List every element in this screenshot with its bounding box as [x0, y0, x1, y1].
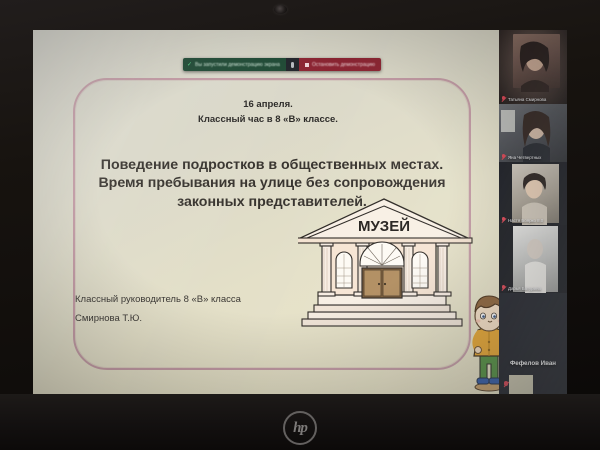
- mic-muted-icon: [501, 154, 506, 160]
- participants-rail: Татьяна Смирнова Яна Четвертных: [499, 30, 567, 395]
- microphone-icon: [291, 62, 294, 68]
- museum-sign-label: МУЗЕЙ: [358, 217, 410, 235]
- participant-avatar-silhouette: [499, 30, 567, 104]
- participant-avatar-silhouette: [499, 225, 567, 293]
- sharing-status-label: Вы запустили демонстрацию экрана: [195, 62, 280, 68]
- check-icon: ✓: [187, 62, 192, 68]
- mic-muted-icon: [501, 96, 506, 102]
- webcam-lens-icon: [274, 5, 287, 14]
- stop-sharing-label: Остановить демонстрацию: [312, 62, 375, 68]
- screen-share-toolbar[interactable]: ✓ Вы запустили демонстрацию экрана Остан…: [183, 58, 381, 71]
- active-speaker-name: Фефелов Иван: [499, 360, 567, 367]
- slide-date-line: 16 апреля.: [53, 98, 483, 113]
- participant-tile[interactable]: Дарья Батурина: [499, 225, 567, 293]
- sharing-status-segment: ✓ Вы запустили демонстрацию экрана: [183, 58, 286, 71]
- slide-author-name: Смирнова Т.Ю.: [75, 309, 241, 328]
- slide-subject-line: Классный час в 8 «В» классе.: [53, 113, 483, 128]
- stop-square-icon: [305, 63, 309, 67]
- toolbar-mic-button[interactable]: [286, 58, 299, 71]
- laptop-bottom-bezel: hp: [0, 394, 600, 450]
- participant-name-row: Яна Четвертных: [501, 154, 541, 160]
- hp-logo-icon: hp: [283, 411, 317, 445]
- laptop-photo: 16 апреля. Классный час в 8 «В» классе. …: [0, 0, 600, 450]
- mic-muted-icon: [501, 217, 506, 223]
- participant-name: Яна Четвертных: [508, 155, 541, 160]
- stop-sharing-button[interactable]: Остановить демонстрацию: [299, 58, 381, 71]
- participant-name: Настя Бояркo 8.0: [508, 218, 543, 223]
- participant-name: Дарья Батурина: [508, 286, 541, 291]
- participant-tile[interactable]: Татьяна Смирнова: [499, 30, 567, 104]
- slide-author-block: Классный руководитель 8 «В» класса Смирн…: [75, 290, 241, 328]
- laptop-screen: 16 апреля. Классный час в 8 «В» классе. …: [33, 30, 567, 395]
- slide-author-role: Классный руководитель 8 «В» класса: [75, 290, 241, 309]
- share-overflow-corner: [509, 375, 533, 395]
- participant-name-row: Настя Бояркo 8.0: [501, 217, 543, 223]
- mic-muted-icon: [501, 285, 506, 291]
- museum-building-illustration: МУЗЕЙ: [298, 198, 478, 338]
- shared-screen-area: 16 апреля. Классный час в 8 «В» классе. …: [33, 30, 499, 395]
- participant-tile[interactable]: Яна Четвертных: [499, 104, 567, 162]
- participant-avatar-silhouette: [499, 162, 567, 225]
- participant-name-row: Дарья Батурина: [501, 285, 541, 291]
- slide-date-block: 16 апреля. Классный час в 8 «В» классе.: [53, 98, 483, 127]
- participant-name: Татьяна Смирнова: [508, 97, 546, 102]
- participant-name-row: Татьяна Смирнова: [501, 96, 546, 102]
- participant-tile[interactable]: Настя Бояркo 8.0: [499, 162, 567, 225]
